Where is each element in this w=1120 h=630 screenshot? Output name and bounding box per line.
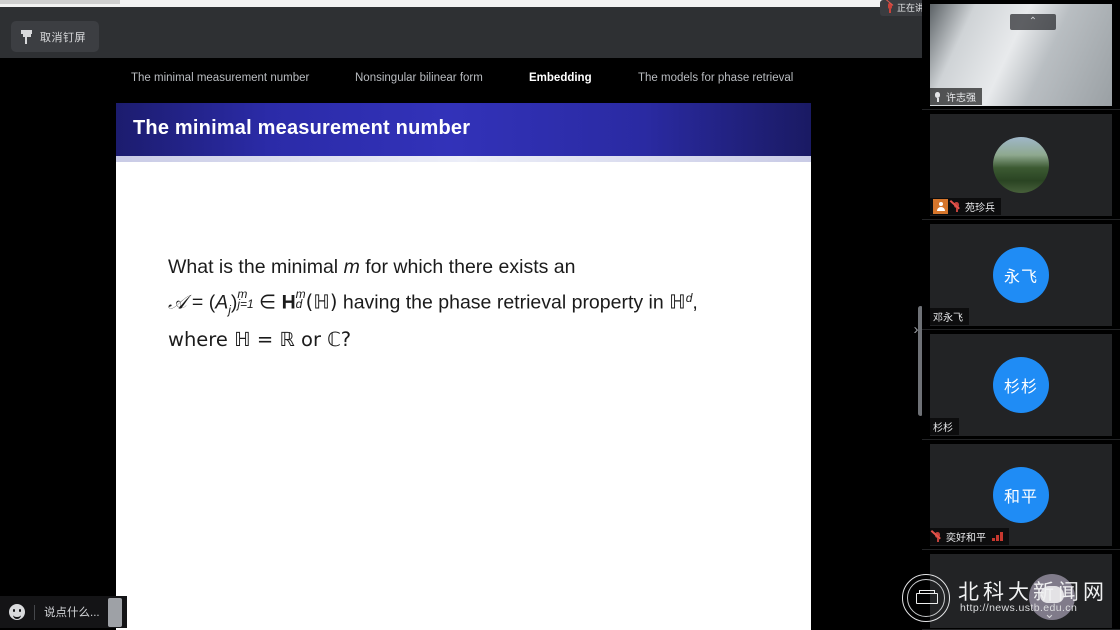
window-title-placeholder [0,0,120,4]
avatar: 和平 [993,467,1049,523]
window-top-strip [0,0,884,7]
avatar: 杉杉 [993,357,1049,413]
H-argument: (ℍ) [306,290,338,313]
slide-body-text: What is the minimal m for which there ex… [168,253,778,354]
participant-tile-1[interactable]: 苑珍兵 [922,110,1120,220]
line1-part-b: for which there exists an [360,256,576,278]
symbol-element-of: ∈ [254,291,282,313]
toolbar-band: 取消钉屏 [0,7,922,58]
nav-tab-nonsingular-bilinear-form[interactable]: Nonsingular bilinear form [355,66,483,90]
slide-title-underline [116,156,811,162]
watermark-url: http://news.ustb.edu.cn [960,602,1077,614]
pin-icon [20,30,33,44]
tuple-subscript-j1: j=1 [237,299,253,309]
avatar [993,137,1049,193]
chat-input-placeholder[interactable]: 说点什么... [35,604,112,620]
chat-resize-handle[interactable] [108,598,122,627]
participant-tile-2[interactable]: 永飞 邓永飞 [922,220,1120,330]
symbol-script-A: 𝒜 [168,291,186,313]
emoji-icon[interactable] [0,596,34,628]
line2-rest-text: having the phase retrieval property in [337,291,669,313]
participant-name-bar: 苑珍兵 [930,198,1001,215]
slide-title-bar: The minimal measurement number [116,103,811,156]
slide-line-2: 𝒜 = (Aj)mj=1 ∈ Hmd(ℍ) having the phase r… [168,284,778,324]
slide-line-3: where ℍ = ℝ or ℂ? [168,326,778,355]
participant-name-bar: 许志强 [930,88,982,105]
pin-screen-button[interactable]: 取消钉屏 [11,21,99,52]
line2-comma: , [692,291,697,313]
mic-muted-icon [952,201,961,213]
symbol-equals: = [186,291,208,313]
symbol-A: A [215,291,228,313]
mic-on-icon [933,91,942,103]
broadcaster-watermark: 北科大新闻网 http://news.ustb.edu.cn ⌄ [898,572,1116,624]
tuple-index-range: mj=1 [237,289,253,309]
participant-name-bar: 邓永飞 [930,308,969,325]
participant-tile-3[interactable]: 杉杉 杉杉 [922,330,1120,440]
slide-line-1: What is the minimal m for which there ex… [168,253,778,282]
participant-name: 许志强 [946,89,976,104]
slide-canvas: The minimal measurement number What is t… [116,103,811,630]
participant-name-bar: 奕好和平 [930,528,1009,545]
panel-collapse-chip[interactable]: ⌃ [1010,14,1056,30]
nav-tab-models-for-phase-retrieval[interactable]: The models for phase retrieval [638,66,793,90]
participant-name: 奕好和平 [946,529,986,544]
nav-tab-embedding[interactable]: Embedding [529,66,592,90]
participant-video-panel: ⌃ 许志强 苑珍兵 永飞 邓永飞 [922,0,1120,630]
slide-title: The minimal measurement number [133,117,470,140]
network-signal-icon [992,532,1003,541]
participant-name: 杉杉 [933,419,953,434]
meeting-screen-share-window: 取消钉屏 正在讲话: 许志强 The minimal measurement n… [0,0,1120,630]
participant-name-bar: 杉杉 [930,418,959,435]
mic-muted-icon [886,3,893,14]
participant-tile-0[interactable]: ⌃ 许志强 [922,0,1120,110]
chevron-down-icon: ⌄ [1044,606,1055,622]
avatar: 永飞 [993,247,1049,303]
host-badge-icon [933,199,948,214]
line1-part-a: What is the minimal [168,256,344,278]
symbol-bold-H: H [282,291,296,313]
H-index-range: md [296,289,306,309]
participant-name: 邓永飞 [933,309,963,324]
pin-button-label: 取消钉屏 [40,29,86,45]
seal-inner-ring [907,579,945,617]
seal-glyph-icon [916,590,936,606]
slide-section-nav: The minimal measurement number Nonsingul… [0,66,922,90]
participant-name: 苑珍兵 [965,199,995,214]
nav-tab-minimal-measurement-number[interactable]: The minimal measurement number [131,66,309,90]
symbol-blackboard-H: ℍ [669,290,686,313]
shared-screen-stage: The minimal measurement number Nonsingul… [0,58,922,630]
line1-variable-m: m [344,256,360,278]
participant-tile-4[interactable]: 和平 奕好和平 [922,440,1120,550]
mic-muted-icon [933,531,942,543]
university-seal-logo-icon [902,574,950,622]
